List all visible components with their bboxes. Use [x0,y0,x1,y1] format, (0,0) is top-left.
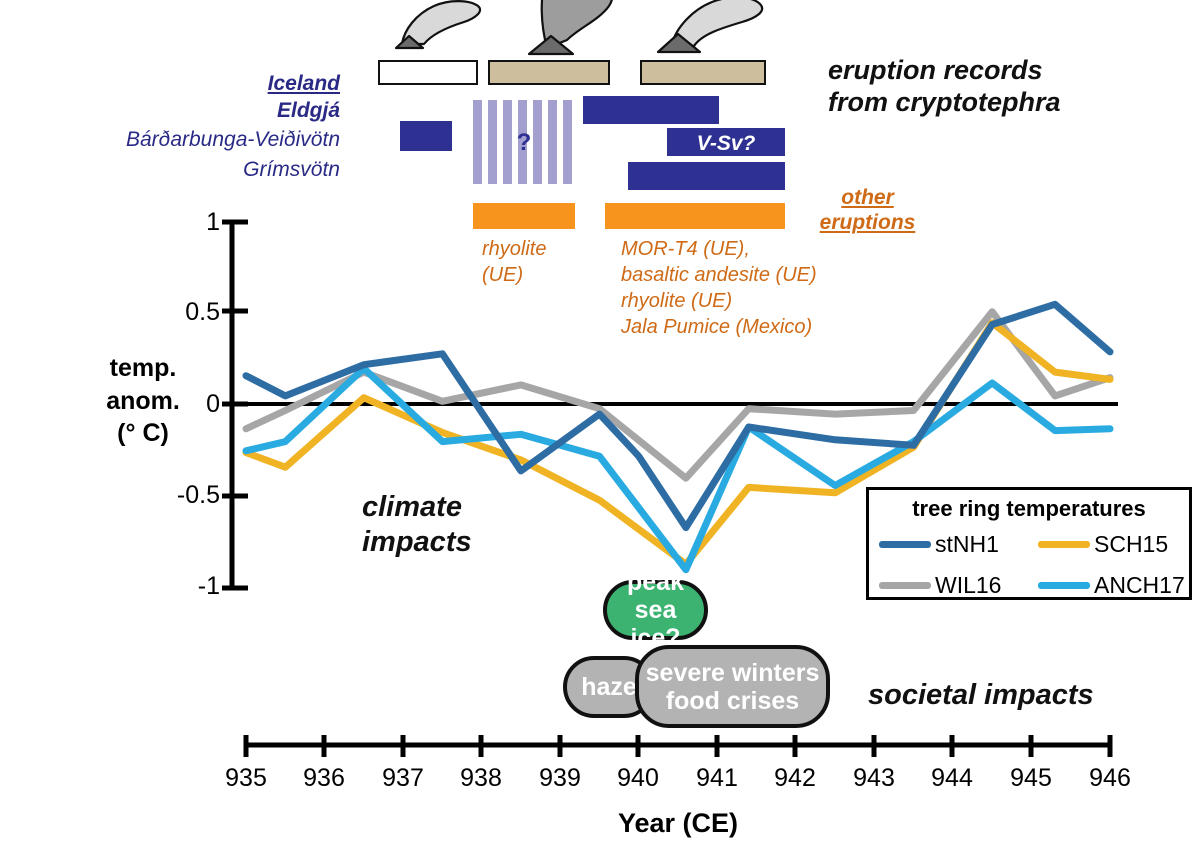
legend-swatch-wil16 [879,582,931,589]
legend-item-sch15[interactable]: SCH15 [1030,531,1189,558]
xtick-label-946: 946 [1070,764,1150,793]
legend-label-anch17: ANCH17 [1094,572,1185,599]
legend-label-stnh1: stNH1 [935,531,999,558]
xtick-label-939: 939 [520,764,600,793]
x-axis-title: Year (CE) [558,808,798,839]
legend-label-sch15: SCH15 [1094,531,1168,558]
xtick-label-941: 941 [677,764,757,793]
xtick-label-943: 943 [834,764,914,793]
figure-root: Iceland Eldgjá Bárðarbunga-Veiðivötn Grí… [0,0,1196,844]
xtick-label-942: 942 [755,764,835,793]
legend: tree ring temperatures stNH1 SCH15 WIL16… [866,487,1192,600]
xtick-label-935: 935 [206,764,286,793]
legend-item-anch17[interactable]: ANCH17 [1030,572,1189,599]
legend-title: tree ring temperatures [869,496,1189,522]
legend-item-wil16[interactable]: WIL16 [869,572,1030,599]
legend-swatch-anch17 [1038,582,1090,589]
legend-swatch-sch15 [1038,541,1090,548]
xtick-label-944: 944 [912,764,992,793]
legend-swatch-stnh1 [879,541,931,548]
legend-item-stnh1[interactable]: stNH1 [869,531,1030,558]
x-axis [0,0,1196,844]
legend-label-wil16: WIL16 [935,572,1001,599]
xtick-label-945: 945 [991,764,1071,793]
xtick-label-937: 937 [363,764,443,793]
xtick-label-936: 936 [284,764,364,793]
xtick-label-940: 940 [598,764,678,793]
xtick-label-938: 938 [441,764,521,793]
